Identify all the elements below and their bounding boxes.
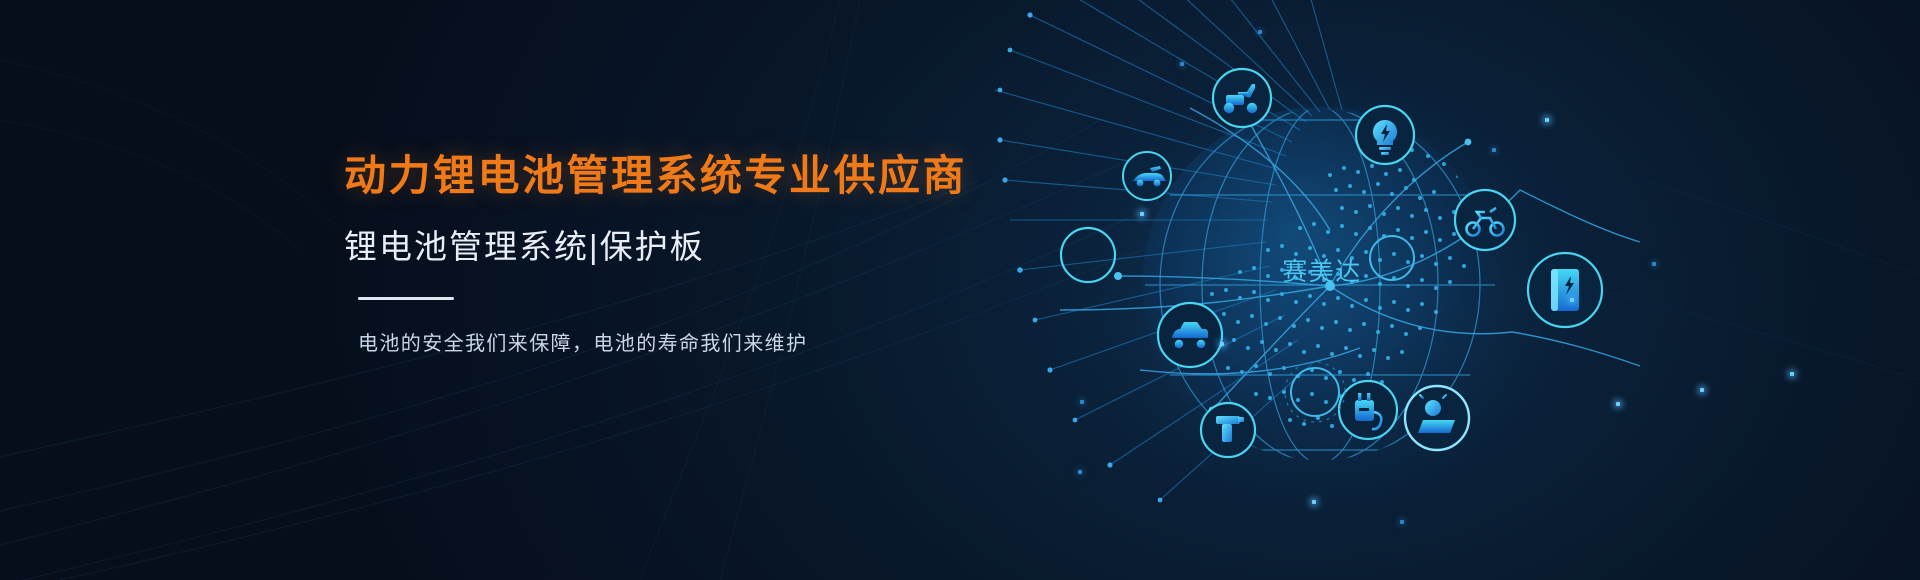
node-plug[interactable] xyxy=(1338,380,1398,440)
node-powerbank[interactable] xyxy=(1527,252,1603,328)
node-drill[interactable] xyxy=(1200,402,1256,458)
node-sportscar[interactable] xyxy=(1122,151,1172,201)
globe-center-label: 赛美达 xyxy=(1282,258,1362,286)
divider-rule xyxy=(358,297,454,300)
banner-subheadline: 锂电池管理系统|保护板 xyxy=(344,227,1064,267)
power-bank-icon xyxy=(1551,269,1579,311)
node-sedan[interactable] xyxy=(1157,302,1223,368)
hero-banner: 动力锂电池管理系统专业供应商 锂电池管理系统|保护板 电池的安全我们来保障，电池… xyxy=(0,0,1920,580)
banner-headline: 动力锂电池管理系统专业供应商 xyxy=(344,150,1064,201)
node-lightbulb[interactable] xyxy=(1355,105,1415,165)
node-solar[interactable] xyxy=(1404,385,1470,451)
banner-tagline: 电池的安全我们来保障，电池的寿命我们来维护 xyxy=(358,327,1064,356)
banner-copy: 动力锂电池管理系统专业供应商 锂电池管理系统|保护板 电池的安全我们来保障，电池… xyxy=(344,150,1064,356)
node-scooter[interactable] xyxy=(1212,68,1272,128)
node-motorbike[interactable] xyxy=(1454,189,1516,251)
node-empty-a[interactable] xyxy=(1061,228,1115,282)
digital-globe-network: 赛美达 xyxy=(1000,0,1640,580)
